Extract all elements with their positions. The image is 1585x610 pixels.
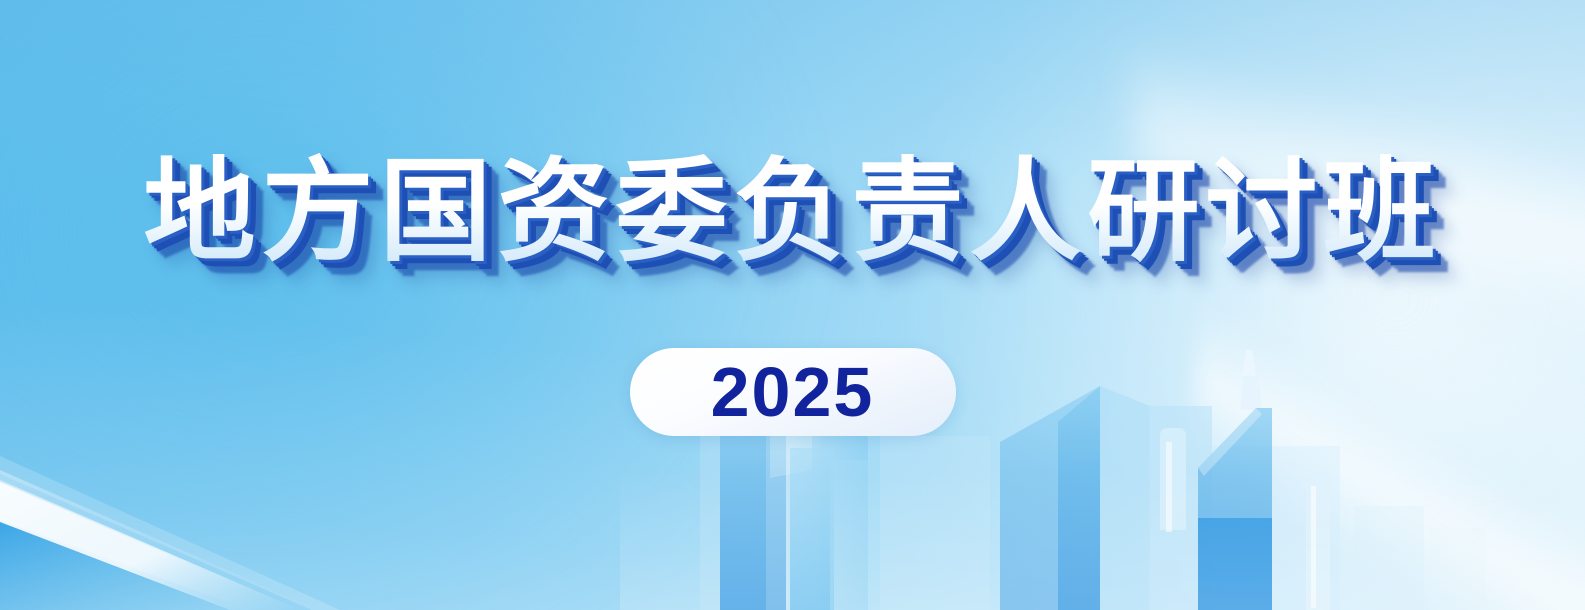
background-vertical-shade [0,0,1585,610]
year-badge-label: 2025 [711,353,875,431]
badge-row: 2025 [0,348,1585,436]
banner-root: 地方国资委负责人研讨班 2025 [0,0,1585,610]
year-badge: 2025 [630,348,956,436]
